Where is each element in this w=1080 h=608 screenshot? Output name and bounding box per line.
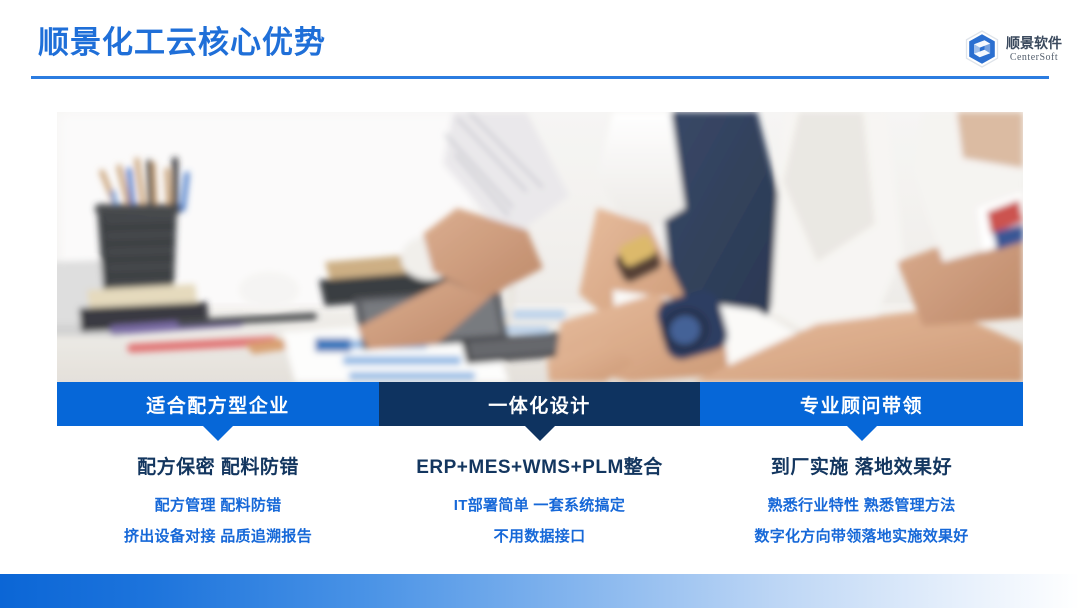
page-title: 顺景化工云核心优势	[38, 24, 326, 61]
feature-column-1: 配方保密 配料防错 配方管理 配料防错 挤出设备对接 品质追溯报告	[57, 452, 379, 556]
brand-name-cn: 顺景软件	[1006, 36, 1062, 50]
feature-column-2: ERP+MES+WMS+PLM整合 IT部署简单 一套系统搞定 不用数据接口	[379, 452, 700, 556]
title-divider	[31, 76, 1049, 79]
feature-banner-1-label: 适合配方型企业	[146, 391, 290, 418]
feature-column-2-subline-1: IT部署简单 一套系统搞定	[454, 494, 625, 515]
footer-gradient-bar	[0, 574, 1080, 608]
feature-banner-2[interactable]: 一体化设计	[379, 382, 700, 426]
feature-column-1-subline-2: 挤出设备对接 品质追溯报告	[124, 525, 312, 546]
feature-banner-row: 适合配方型企业 一体化设计 专业顾问带领	[57, 382, 1023, 426]
brand-name-en: CenterSoft	[1010, 53, 1058, 63]
feature-column-2-subline-2: 不用数据接口	[494, 525, 586, 546]
triangle-pointer-icon	[525, 426, 555, 441]
hexagon-s-logo-icon	[965, 30, 999, 68]
feature-column-3: 到厂实施 落地效果好 熟悉行业特性 熟悉管理方法 数字化方向带领落地实施效果好	[700, 452, 1023, 556]
feature-column-2-headline: ERP+MES+WMS+PLM整合	[416, 452, 663, 479]
feature-column-3-subline-2: 数字化方向带领落地实施效果好	[754, 525, 968, 546]
feature-column-3-subline-1: 熟悉行业特性 熟悉管理方法	[767, 494, 955, 515]
triangle-pointer-icon	[203, 426, 233, 441]
feature-detail-row: 配方保密 配料防错 配方管理 配料防错 挤出设备对接 品质追溯报告 ERP+ME…	[57, 452, 1023, 556]
brand-logo: 顺景软件 CenterSoft	[965, 30, 1062, 68]
feature-column-1-subline-1: 配方管理 配料防错	[155, 494, 282, 515]
brand-wordmark: 顺景软件 CenterSoft	[1006, 36, 1062, 63]
feature-column-3-headline: 到厂实施 落地效果好	[771, 452, 952, 479]
feature-banner-3[interactable]: 专业顾问带领	[700, 382, 1023, 426]
triangle-pointer-icon	[847, 426, 877, 441]
feature-banner-3-label: 专业顾问带领	[800, 391, 923, 418]
feature-banner-1[interactable]: 适合配方型企业	[57, 382, 379, 426]
feature-column-1-headline: 配方保密 配料防错	[137, 452, 299, 479]
hero-photo	[57, 112, 1023, 382]
feature-banner-2-label: 一体化设计	[488, 391, 591, 418]
